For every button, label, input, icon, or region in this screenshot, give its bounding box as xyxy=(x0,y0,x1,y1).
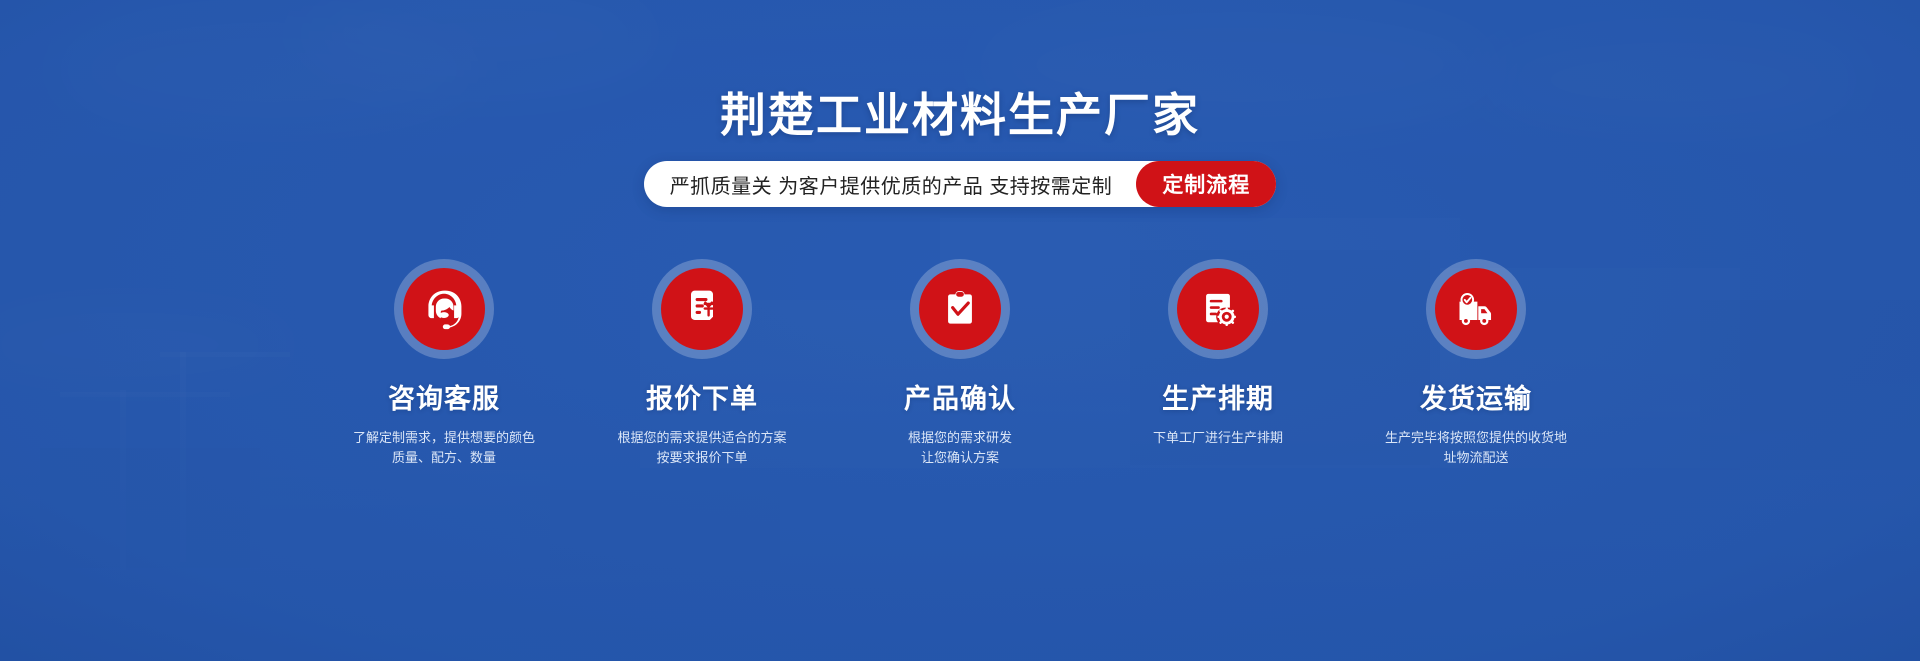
page-title: 荆楚工业材料生产厂家 xyxy=(720,92,1200,138)
step-description: 根据您的需求研发 让您确认方案 xyxy=(908,428,1012,468)
icon-ring xyxy=(652,259,752,359)
icon-ring xyxy=(394,259,494,359)
custom-process-button[interactable]: 定制流程 xyxy=(1136,161,1276,207)
step-title: 产品确认 xyxy=(904,385,1016,415)
icon-circle xyxy=(919,268,1001,350)
icon-circle xyxy=(1435,268,1517,350)
tagline-text: 严抓质量关 为客户提供优质的产品 支持按需定制 xyxy=(670,170,1137,199)
icon-ring xyxy=(1168,259,1268,359)
document-gear-icon xyxy=(1196,287,1240,331)
step-title: 生产排期 xyxy=(1162,385,1274,415)
icon-circle xyxy=(1177,268,1259,350)
delivery-truck-check-icon xyxy=(1454,287,1498,331)
process-step-quote[interactable]: 报价下单 根据您的需求提供适合的方案 按要求报价下单 xyxy=(596,259,808,468)
process-step-schedule[interactable]: 生产排期 下单工厂进行生产排期 xyxy=(1112,259,1324,468)
promo-banner: 荆楚工业材料生产厂家 严抓质量关 为客户提供优质的产品 支持按需定制 定制流程 xyxy=(0,0,1920,661)
headset-support-icon xyxy=(422,287,466,331)
step-description: 根据您的需求提供适合的方案 按要求报价下单 xyxy=(617,428,786,468)
tagline-pill: 严抓质量关 为客户提供优质的产品 支持按需定制 定制流程 xyxy=(644,161,1277,207)
process-step-consult[interactable]: 咨询客服 了解定制需求，提供想要的颜色 质量、配方、数量 xyxy=(338,259,550,468)
step-description-line1: 根据您的需求研发 xyxy=(908,428,1012,448)
icon-circle xyxy=(661,268,743,350)
step-description: 生产完毕将按照您提供的收货地 址物流配送 xyxy=(1385,428,1567,468)
icon-circle xyxy=(403,268,485,350)
step-description-line2: 址物流配送 xyxy=(1385,448,1567,468)
step-description-line2: 按要求报价下单 xyxy=(617,448,786,468)
step-description-line1: 了解定制需求，提供想要的颜色 xyxy=(353,428,535,448)
step-description: 下单工厂进行生产排期 xyxy=(1153,428,1283,448)
step-description-line1: 下单工厂进行生产排期 xyxy=(1153,428,1283,448)
step-description: 了解定制需求，提供想要的颜色 质量、配方、数量 xyxy=(353,428,535,468)
clipboard-check-icon xyxy=(938,287,982,331)
step-description-line1: 生产完毕将按照您提供的收货地 xyxy=(1385,428,1567,448)
step-title: 咨询客服 xyxy=(388,385,500,415)
step-title: 报价下单 xyxy=(646,385,758,415)
process-step-shipping[interactable]: 发货运输 生产完毕将按照您提供的收货地 址物流配送 xyxy=(1370,259,1582,468)
step-title: 发货运输 xyxy=(1420,385,1532,415)
step-description-line2: 让您确认方案 xyxy=(908,448,1012,468)
icon-ring xyxy=(1426,259,1526,359)
quote-invoice-yuan-icon xyxy=(680,287,724,331)
step-description-line2: 质量、配方、数量 xyxy=(353,448,535,468)
process-step-confirm[interactable]: 产品确认 根据您的需求研发 让您确认方案 xyxy=(854,259,1066,468)
process-steps: 咨询客服 了解定制需求，提供想要的颜色 质量、配方、数量 xyxy=(338,259,1582,468)
icon-ring xyxy=(910,259,1010,359)
step-description-line1: 根据您的需求提供适合的方案 xyxy=(617,428,786,448)
